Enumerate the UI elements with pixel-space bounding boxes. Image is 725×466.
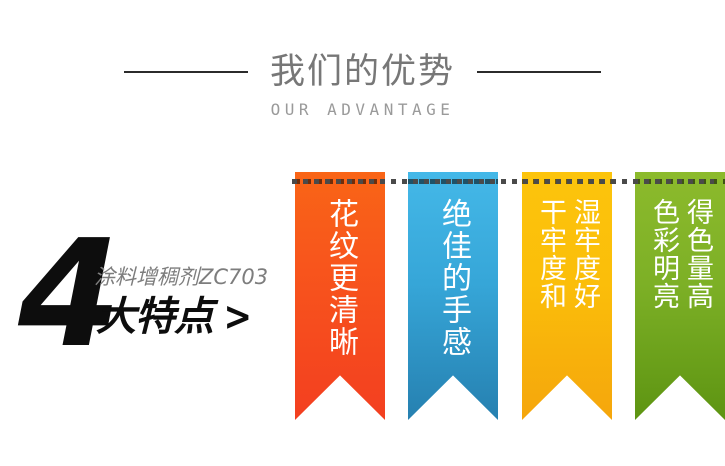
ribbon-text-2-col-1: 绝佳的手感	[436, 198, 470, 358]
ribbon-text-4-col-1: 得色量高	[682, 198, 712, 310]
ribbon-text-3-col-1: 湿牢度好	[569, 198, 599, 310]
promo-banner: 我们的优势 OUR ADVANTAGE 4 涂料增稠剂ZC703 大特点 > 花…	[0, 0, 725, 466]
ribbon-group: 花纹更清晰 绝佳的手感 湿牢度好 干牢度和 得色量高 色彩明亮	[0, 0, 725, 466]
ribbon-item-3: 湿牢度好 干牢度和	[522, 172, 612, 420]
ribbon-item-2: 绝佳的手感	[408, 172, 498, 420]
dashed-connector-line	[292, 179, 714, 184]
ribbon-text-3-col-2: 干牢度和	[535, 198, 565, 310]
ribbon-item-4: 得色量高 色彩明亮	[635, 172, 725, 420]
ribbon-text-1-col-1: 花纹更清晰	[323, 198, 357, 358]
ribbon-text-4-col-2: 色彩明亮	[648, 198, 678, 310]
ribbon-item-1: 花纹更清晰	[295, 172, 385, 420]
